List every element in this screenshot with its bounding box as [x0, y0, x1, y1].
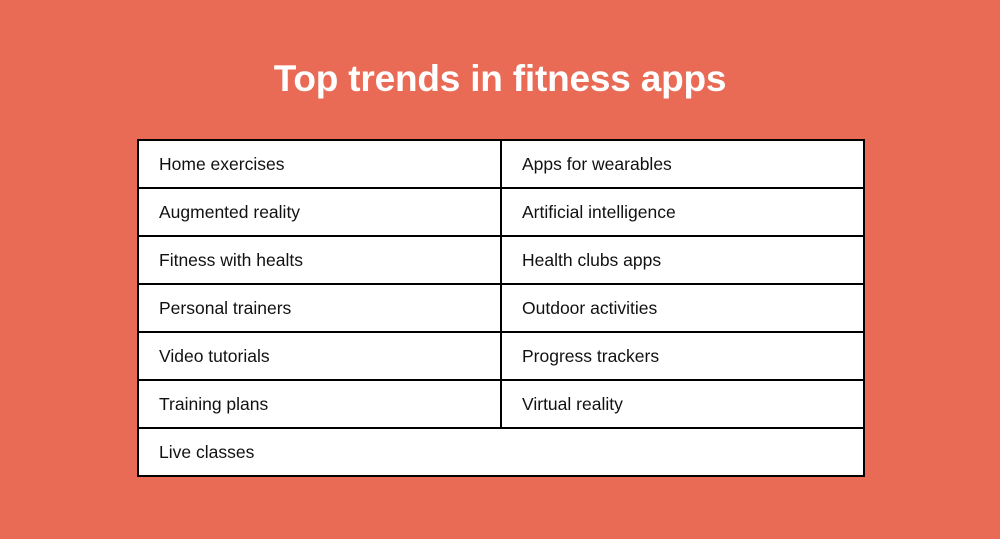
trend-cell-right: Health clubs apps — [501, 236, 864, 284]
table-row: Augmented reality Artificial intelligenc… — [138, 188, 864, 236]
trend-cell-right: Progress trackers — [501, 332, 864, 380]
trend-cell-right: Apps for wearables — [501, 140, 864, 188]
trend-cell-left: Augmented reality — [138, 188, 501, 236]
trend-cell-left: Training plans — [138, 380, 501, 428]
trends-table-body: Home exercises Apps for wearables Augmen… — [138, 140, 864, 476]
table-row: Fitness with healts Health clubs apps — [138, 236, 864, 284]
page-title: Top trends in fitness apps — [0, 56, 1000, 102]
trends-table: Home exercises Apps for wearables Augmen… — [137, 139, 865, 477]
poster-canvas: Top trends in fitness apps Home exercise… — [0, 0, 1000, 539]
trend-cell-full: Live classes — [138, 428, 864, 476]
trend-cell-right: Outdoor activities — [501, 284, 864, 332]
trend-cell-right: Virtual reality — [501, 380, 864, 428]
trend-cell-right: Artificial intelligence — [501, 188, 864, 236]
table-row: Personal trainers Outdoor activities — [138, 284, 864, 332]
table-row: Live classes — [138, 428, 864, 476]
table-row: Home exercises Apps for wearables — [138, 140, 864, 188]
table-row: Video tutorials Progress trackers — [138, 332, 864, 380]
trend-cell-left: Home exercises — [138, 140, 501, 188]
trend-cell-left: Personal trainers — [138, 284, 501, 332]
trend-cell-left: Fitness with healts — [138, 236, 501, 284]
table-row: Training plans Virtual reality — [138, 380, 864, 428]
trend-cell-left: Video tutorials — [138, 332, 501, 380]
